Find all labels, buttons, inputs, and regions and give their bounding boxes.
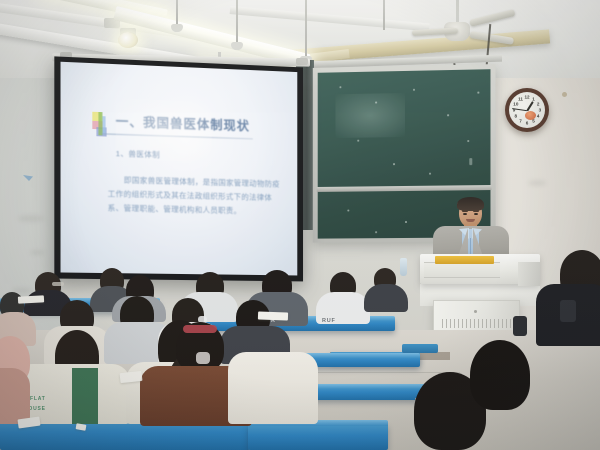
desk xyxy=(248,424,388,450)
wall-hook xyxy=(562,92,567,97)
student-body xyxy=(364,284,408,312)
pendant-rod xyxy=(176,0,178,26)
pendant-rod xyxy=(383,0,385,30)
notebook xyxy=(258,311,288,320)
clock-pendulum xyxy=(525,111,536,120)
water-bottle xyxy=(513,316,527,336)
presenter-brow xyxy=(462,210,468,212)
clothing-text: FLAT xyxy=(30,396,46,402)
projected-slide: 一、我国兽医体制现状 1、兽医体制 即国家兽医管理体制，是指国家管理动物防疫工作… xyxy=(61,62,298,276)
slide-subtitle: 1、兽医体制 xyxy=(116,148,280,164)
clock-numeral: 10 xyxy=(513,101,518,106)
notebook xyxy=(18,295,44,303)
podium-front-panel xyxy=(424,262,500,278)
pendant-rod xyxy=(305,0,307,58)
clock-hour-hand xyxy=(526,101,533,111)
student-head xyxy=(470,340,530,410)
presenter-brow xyxy=(473,210,479,212)
presenter-eye xyxy=(463,213,467,215)
clock-face: 12 1 2 3 4 5 6 7 8 9 10 11 xyxy=(509,92,545,128)
clock-numeral: 3 xyxy=(539,108,542,113)
podium-screw xyxy=(474,310,477,313)
projection-screen: 一、我国兽医体制现状 1、兽医体制 即国家兽医管理体制，是指国家管理动物防疫工作… xyxy=(54,56,303,281)
student-body xyxy=(228,352,318,424)
ceiling-fan xyxy=(400,0,500,44)
slide-title-rule xyxy=(101,133,252,139)
screen-bracket xyxy=(296,58,308,65)
hoodie-stripe xyxy=(72,368,98,424)
board-glare xyxy=(335,93,405,138)
slide-title: 一、我国兽医体制现状 xyxy=(116,111,280,136)
water-bottle xyxy=(400,258,407,276)
pendant-rod xyxy=(236,0,238,44)
presenter-mouth xyxy=(466,219,475,222)
chair-back xyxy=(402,344,438,353)
student-body xyxy=(0,368,30,424)
wall-clock: 12 1 2 3 4 5 6 7 8 9 10 11 xyxy=(505,88,549,132)
lamp-bulb-icon xyxy=(118,32,138,48)
slide-body-text: 即国家兽医管理体制，是指国家管理动物防疫工作的组织形式及其在法政组织形式下的法律… xyxy=(108,173,280,219)
wall-mark xyxy=(528,180,546,186)
clock-numeral: 8 xyxy=(515,114,518,119)
presenter-hair xyxy=(457,197,484,211)
face-mask-icon xyxy=(196,352,210,364)
wall-mark xyxy=(18,215,44,222)
clock-numeral: 2 xyxy=(537,101,540,106)
classroom-photo: 12 1 2 3 4 5 6 7 8 9 10 11 xyxy=(0,0,600,450)
wall-mark xyxy=(30,250,44,255)
clock-numeral: 12 xyxy=(524,95,529,100)
podium-accent-strip xyxy=(435,256,494,264)
clock-numeral: 11 xyxy=(518,96,523,101)
fan-rod xyxy=(456,0,459,24)
clock-numeral: 6 xyxy=(526,120,529,125)
clock-numeral: 7 xyxy=(519,119,522,124)
backpack xyxy=(560,300,576,322)
clock-numeral: 4 xyxy=(537,114,540,119)
podium-side-module xyxy=(518,262,540,286)
clothing-text: RUF xyxy=(322,318,336,324)
presenter-eye xyxy=(474,213,478,215)
eyeglasses-icon xyxy=(52,282,64,286)
slide-content: 一、我国兽医体制现状 1、兽医体制 即国家兽医管理体制，是指国家管理动物防疫工作… xyxy=(61,62,298,276)
floor-tile-seam xyxy=(300,372,460,373)
hair-band xyxy=(183,325,217,333)
